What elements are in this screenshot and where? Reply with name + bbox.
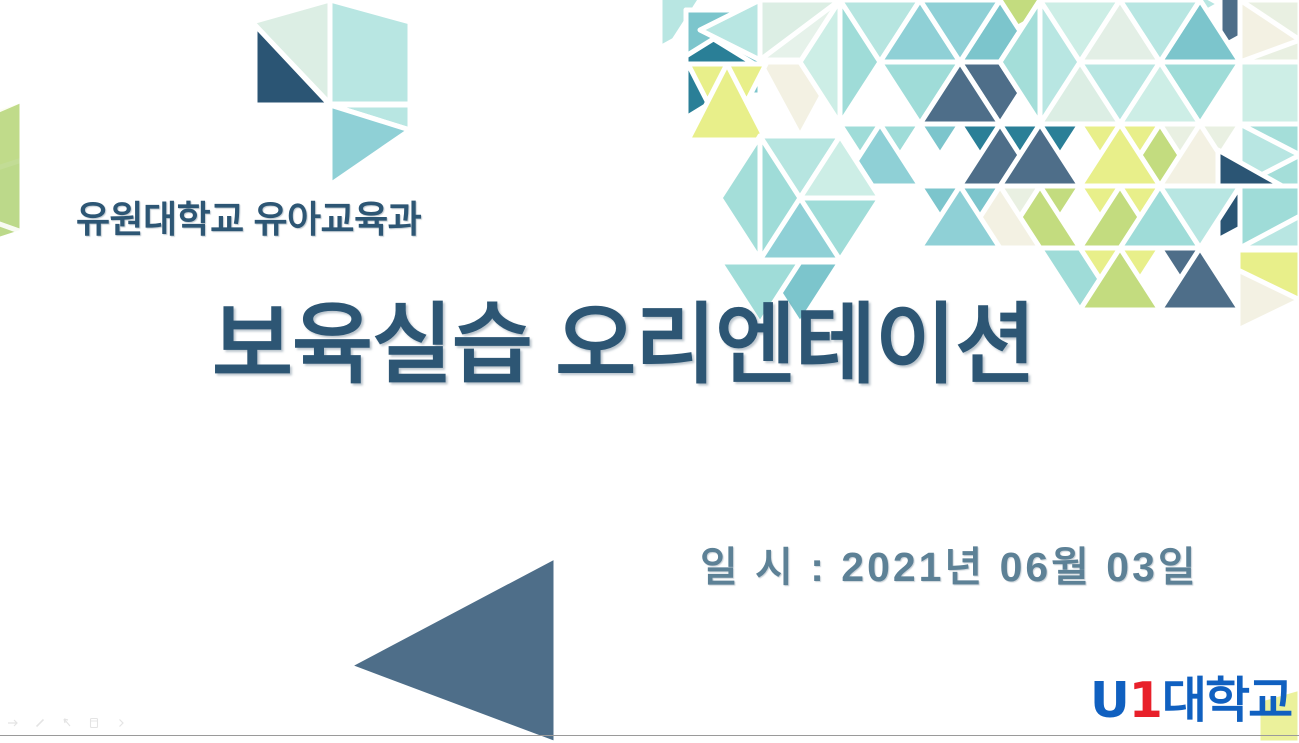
more-options-icon[interactable]	[114, 716, 128, 730]
department-subtitle: 유원대학교 유아교육과	[76, 189, 421, 243]
next-slide-arrow-icon[interactable]	[6, 716, 20, 730]
presenter-toolbar[interactable]	[6, 716, 128, 730]
university-logo: U1대학교	[1090, 676, 1291, 726]
logo-digit-one: 1	[1129, 672, 1162, 729]
logo-wordmark: 대학교	[1162, 674, 1291, 728]
pen-icon[interactable]	[33, 716, 47, 730]
bottom-divider	[0, 735, 1299, 736]
page-title: 보육실습 오리엔테이션	[212, 297, 1035, 392]
event-date-line: 일 시 : 2021년 06월 03일	[700, 533, 1199, 593]
slide-menu-icon[interactable]	[87, 716, 101, 730]
logo-letter-u: U	[1090, 672, 1129, 729]
presentation-slide: .tri { stroke: #ffffff; stroke-width: 5;…	[0, 0, 1299, 743]
pointer-icon[interactable]	[60, 716, 74, 730]
